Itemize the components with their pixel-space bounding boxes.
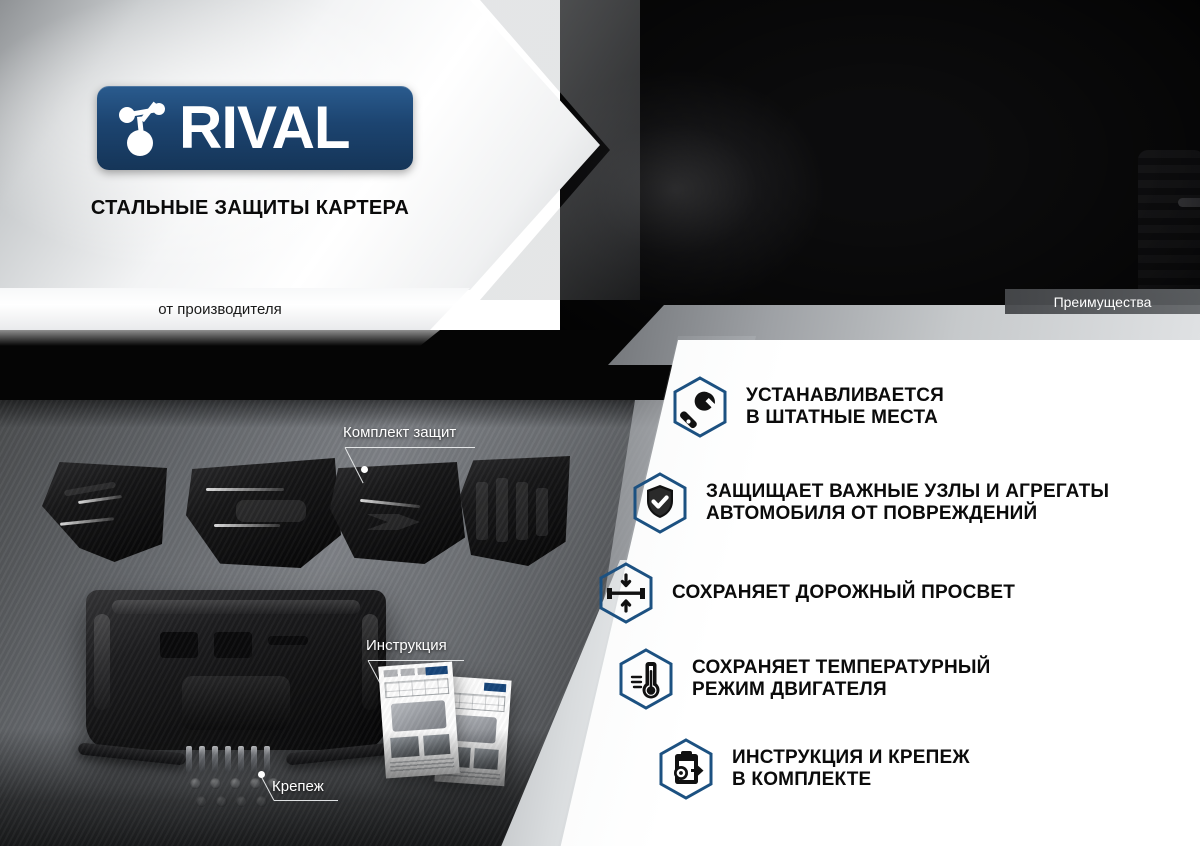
instruction-sheet-back <box>434 676 511 787</box>
thermometer-icon <box>618 648 674 710</box>
clearance-icon <box>598 562 654 624</box>
advantages-banner-label: Преимущества <box>1054 294 1152 310</box>
subtitle-bar-sheen <box>0 330 440 346</box>
poster-root: Комплект защит Инструкция Крепеж RIVAL С <box>0 0 1200 849</box>
advantage-item-kit: ИНСТРУКЦИЯ И КРЕПЕЖ В КОМПЛЕКТЕ <box>658 738 970 800</box>
advantage-text-kit: ИНСТРУКЦИЯ И КРЕПЕЖ В КОМПЛЕКТЕ <box>732 747 970 792</box>
subtitle-bar: от производителя <box>0 288 470 330</box>
advantages-banner: Преимущества <box>1005 289 1200 314</box>
instruction-sheet-front <box>378 662 460 779</box>
advantage-item-protect: ЗАЩИЩАЕТ ВАЖНЫЕ УЗЛЫ И АГРЕГАТЫ АВТОМОБИ… <box>632 472 1109 534</box>
mounting-bracket-right <box>286 742 395 765</box>
advantage-item-temperature: СОХРАНЯЕТ ТЕМПЕРАТУРНЫЙ РЕЖИМ ДВИГАТЕЛЯ <box>618 648 991 710</box>
skid-plate-2 <box>186 458 341 568</box>
skid-plate-4 <box>460 456 570 566</box>
callout-label-hardware: Крепеж <box>272 778 324 795</box>
advantage-item-clearance: СОХРАНЯЕТ ДОРОЖНЫЙ ПРОСВЕТ <box>598 562 1015 624</box>
main-engine-guard <box>86 590 386 750</box>
skid-plate-1 <box>42 462 167 562</box>
advantage-text-install: УСТАНАВЛИВАЕТСЯ В ШТАТНЫЕ МЕСТА <box>746 385 944 430</box>
molecule-icon <box>113 99 175 157</box>
mounting-bracket-left <box>78 742 187 765</box>
callout-label-instruction: Инструкция <box>366 637 447 654</box>
skid-plate-3 <box>330 462 465 564</box>
clipboard-bolt-icon <box>658 738 714 800</box>
wrench-icon <box>672 376 728 438</box>
advantage-text-protect: ЗАЩИЩАЕТ ВАЖНЫЕ УЗЛЫ И АГРЕГАТЫ АВТОМОБИ… <box>706 481 1109 526</box>
advantage-item-install: УСТАНАВЛИВАЕТСЯ В ШТАТНЫЕ МЕСТА <box>672 376 944 438</box>
shield-check-icon <box>632 472 688 534</box>
brand-name: RIVAL <box>179 98 350 158</box>
callout-label-kit: Комплект защит <box>343 424 456 441</box>
advantage-text-clearance: СОХРАНЯЕТ ДОРОЖНЫЙ ПРОСВЕТ <box>672 582 1015 604</box>
page-title: СТАЛЬНЫЕ ЗАЩИТЫ КАРТЕРА <box>40 196 460 220</box>
subtitle-text: от производителя <box>158 301 281 318</box>
brand-logo: RIVAL <box>97 86 413 170</box>
advantage-text-temperature: СОХРАНЯЕТ ТЕМПЕРАТУРНЫЙ РЕЖИМ ДВИГАТЕЛЯ <box>692 657 991 702</box>
